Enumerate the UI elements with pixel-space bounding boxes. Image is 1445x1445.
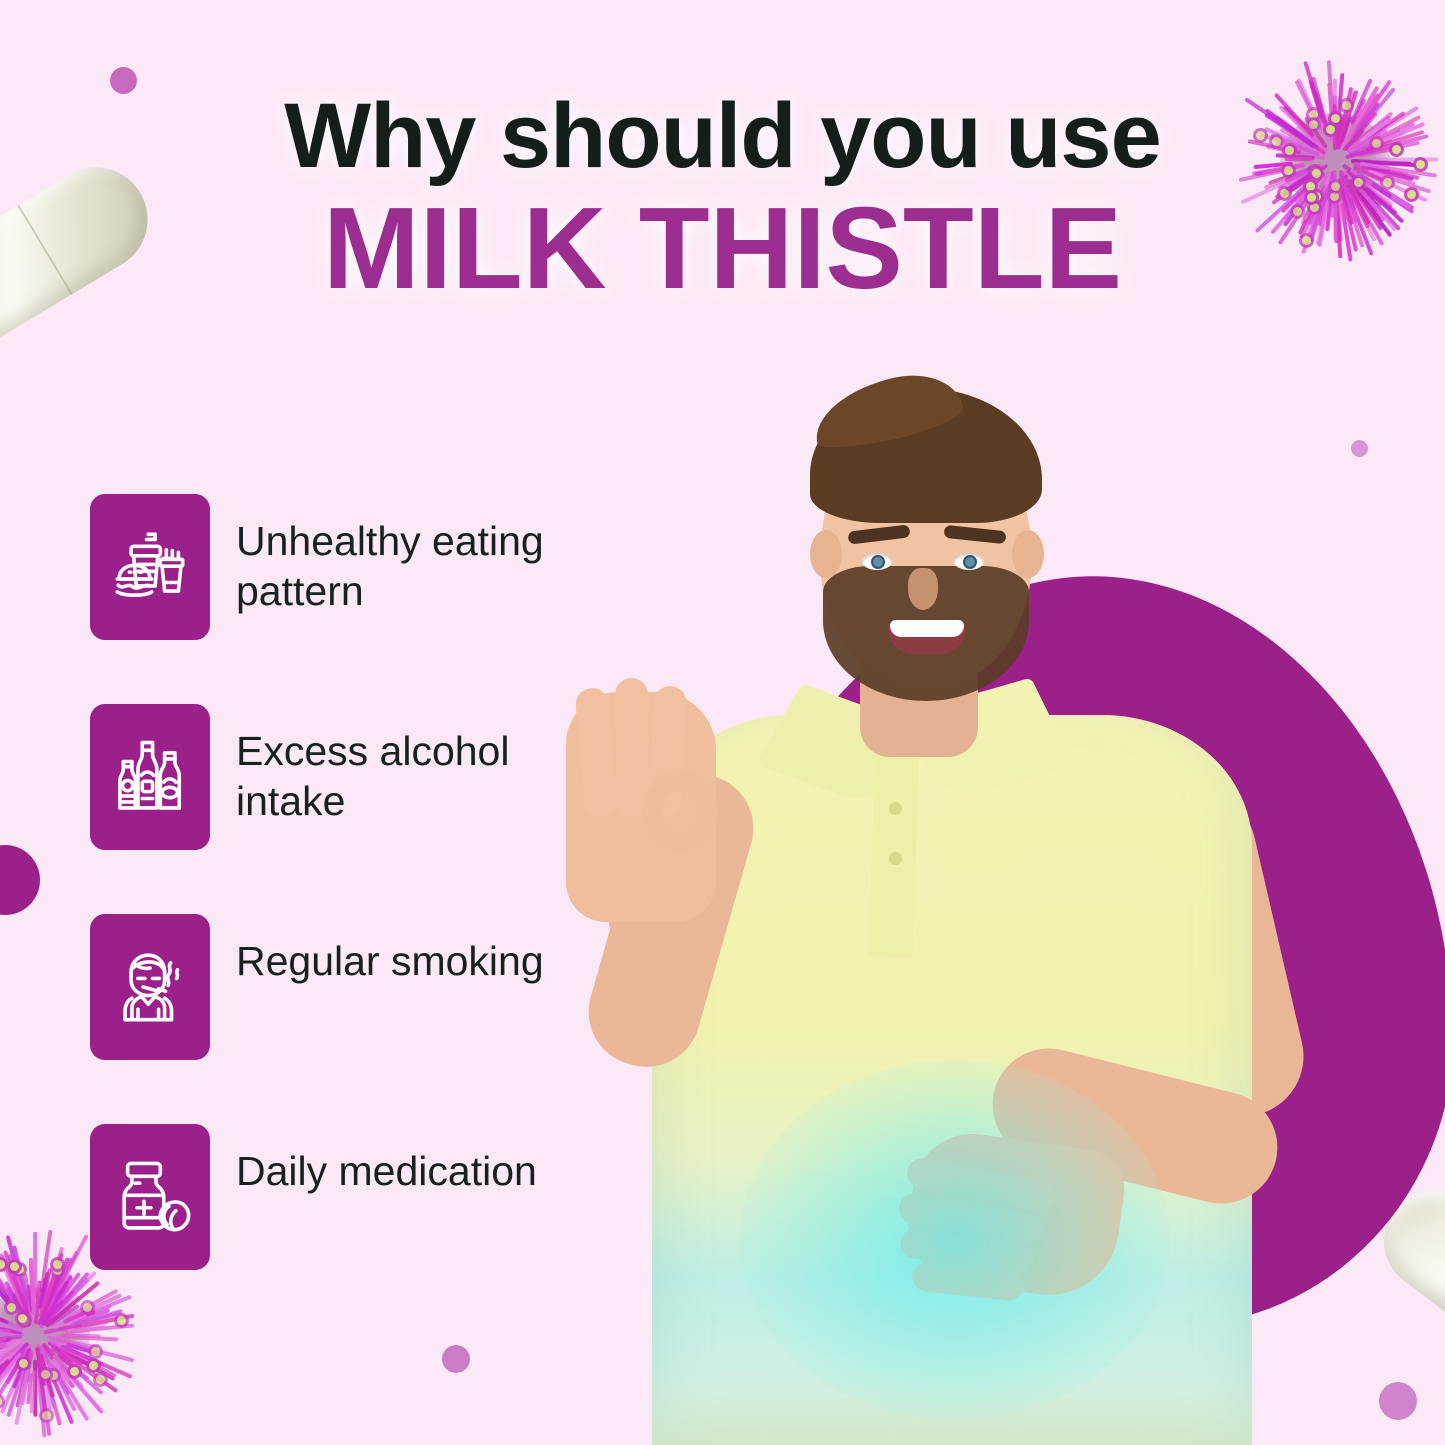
medicine-bottle-pills-icon bbox=[90, 1124, 210, 1270]
decorative-circle-left-edge bbox=[0, 845, 40, 915]
polo-placket bbox=[868, 741, 919, 957]
thistle-floret-center bbox=[49, 1371, 58, 1380]
feature-item-daily-medication: Daily medication bbox=[90, 1124, 570, 1270]
thistle-floret-center bbox=[18, 1314, 27, 1323]
ear bbox=[1012, 530, 1044, 578]
person-photo bbox=[520, 370, 1445, 1445]
iris bbox=[963, 555, 977, 569]
headline-block: Why should you use MILK THISTLE bbox=[0, 88, 1445, 306]
thistle-floret-center bbox=[42, 1411, 51, 1420]
thistle-floret-center bbox=[0, 1397, 2, 1406]
teeth bbox=[890, 620, 964, 637]
shirt-button bbox=[889, 802, 902, 815]
feature-label: Excess alcohol intake bbox=[236, 704, 566, 826]
feature-item-regular-smoking: Regular smoking bbox=[90, 914, 570, 1060]
iris bbox=[871, 555, 885, 569]
headline-line-1: Why should you use bbox=[0, 88, 1445, 186]
decorative-dot bbox=[442, 1345, 470, 1373]
thistle-floret-center bbox=[19, 1359, 28, 1368]
thistle-floret-center bbox=[91, 1347, 100, 1356]
feature-list: Unhealthy eating pattern bbox=[90, 494, 570, 1270]
feature-label: Regular smoking bbox=[236, 914, 544, 986]
infographic-canvas: Why should you use MILK THISTLE bbox=[0, 0, 1445, 1445]
smoking-person-icon bbox=[90, 914, 210, 1060]
shirt-button bbox=[889, 852, 902, 865]
feature-item-excess-alcohol: Excess alcohol intake bbox=[90, 704, 570, 850]
feature-label: Unhealthy eating pattern bbox=[236, 494, 566, 616]
thistle-floret-center bbox=[83, 1303, 92, 1312]
feature-label: Daily medication bbox=[236, 1124, 537, 1196]
thistle-floret-center bbox=[10, 1262, 19, 1271]
ear bbox=[810, 530, 842, 578]
ok-ring bbox=[642, 770, 718, 852]
feature-item-unhealthy-eating: Unhealthy eating pattern bbox=[90, 494, 570, 640]
headline-line-2: MILK THISTLE bbox=[0, 190, 1445, 306]
fast-food-icon bbox=[90, 494, 210, 640]
thistle-floret-center bbox=[41, 1370, 50, 1379]
nose bbox=[908, 568, 938, 610]
alcohol-bottles-icon bbox=[90, 704, 210, 850]
